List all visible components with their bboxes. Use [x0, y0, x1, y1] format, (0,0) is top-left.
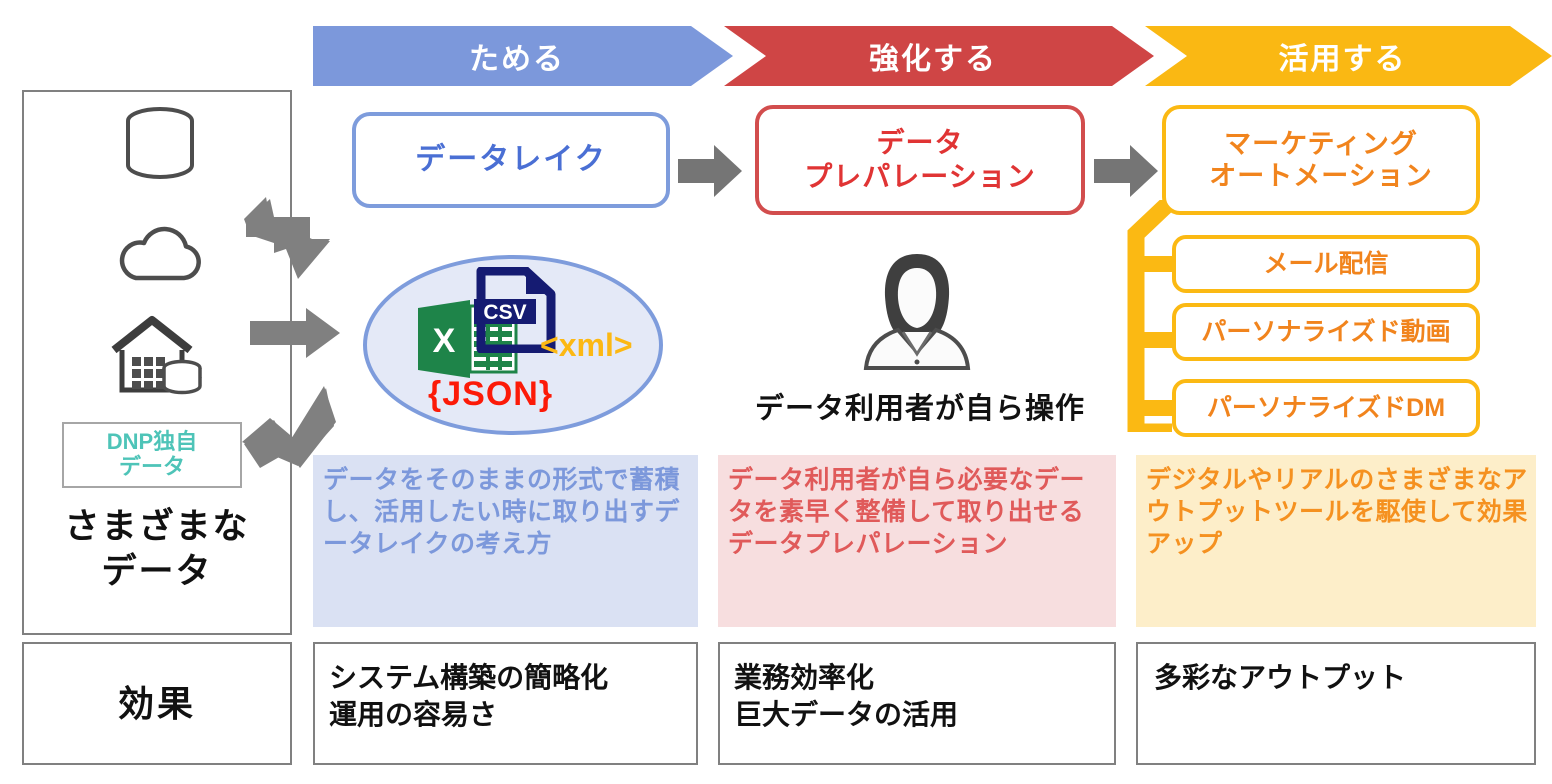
arrow-right-icon — [250, 308, 340, 363]
effect-line2: 巨大データの活用 — [734, 697, 1114, 734]
effect-line2: 運用の容易さ — [329, 697, 696, 734]
stage-banner-accumulate: ためる — [313, 26, 733, 86]
data-preparation-line2: プレパレーション — [804, 160, 1035, 194]
cloud-icon — [112, 222, 208, 289]
dnp-proprietary-data-badge: DNP独自 データ — [62, 422, 242, 488]
json-format-label: {JSON} — [428, 375, 553, 414]
stage-banner-label: ためる — [469, 34, 565, 78]
stage1-description-band: データをそのままの形式で蓄積し、活用したい時に取り出すデータレイクの考え方 — [313, 455, 698, 627]
svg-text:X: X — [433, 322, 456, 360]
stage-banner-utilize: 活用する — [1145, 26, 1552, 86]
stage-banner-label: 強化する — [869, 34, 997, 78]
svg-text:CSV: CSV — [483, 301, 526, 324]
stage3-description-band: デジタルやリアルのさまざまなアウトプットツールを駆使して効果アップ — [1136, 455, 1536, 627]
effects-label-text: 効果 — [118, 680, 196, 728]
various-data-line2: データ — [22, 550, 292, 595]
various-data-line1: さまざまな — [22, 505, 292, 550]
output-label: メール配信 — [1263, 249, 1388, 279]
on-premise-house-database-icon — [106, 310, 214, 405]
data-utilization-process-diagram: ためる 強化する 活用する — [0, 0, 1552, 784]
marketing-automation-line1: マーケティング — [1224, 128, 1418, 160]
data-lake-box[interactable]: データレイク — [352, 112, 670, 208]
effect-line1: 業務効率化 — [734, 660, 1114, 697]
data-preparation-line1: データ — [876, 126, 963, 160]
data-lake-label: データレイク — [415, 142, 606, 178]
effect-cell-stage3: 多彩なアウトプット — [1136, 642, 1536, 765]
dnp-badge-line1: DNP独自 — [107, 430, 197, 455]
database-cylinder-icon — [118, 105, 202, 188]
output-box-personalized-video[interactable]: パーソナライズド動画 — [1172, 303, 1480, 361]
xml-format-label: <xml> — [540, 327, 633, 364]
marketing-automation-box[interactable]: マーケティング オートメーション — [1162, 105, 1480, 215]
output-box-email[interactable]: メール配信 — [1172, 235, 1480, 293]
self-service-caption: データ利用者が自ら操作 — [715, 385, 1125, 427]
dnp-badge-line2: データ — [119, 455, 185, 480]
effect-line1: システム構築の簡略化 — [329, 660, 696, 697]
stage-banner-label: 活用する — [1279, 34, 1407, 78]
output-label: パーソナライズド動画 — [1201, 317, 1450, 347]
effect-line1: 多彩なアウトプット — [1154, 660, 1534, 697]
arrow-right-prep-to-ma-icon — [1094, 145, 1158, 202]
data-preparation-box[interactable]: データ プレパレーション — [755, 105, 1085, 215]
various-data-label: さまざまな データ — [22, 505, 292, 595]
arrow-right-lake-to-prep-icon — [678, 145, 742, 202]
arrow-down-right-icon — [240, 195, 340, 290]
user-avatar-female-icon — [858, 252, 976, 379]
marketing-automation-line2: オートメーション — [1209, 160, 1432, 192]
stage2-description-band: データ利用者が自ら必要なデータを素早く整備して取り出せるデータプレパレーション — [718, 455, 1116, 627]
effect-cell-stage1: システム構築の簡略化 運用の容易さ — [313, 642, 698, 765]
effects-row-label: 効果 — [22, 642, 292, 765]
output-box-personalized-dm[interactable]: パーソナライズドDM — [1172, 379, 1480, 437]
stage-banner-enhance: 強化する — [724, 26, 1154, 86]
output-label: パーソナライズドDM — [1207, 393, 1445, 423]
effect-cell-stage2: 業務効率化 巨大データの活用 — [718, 642, 1116, 765]
